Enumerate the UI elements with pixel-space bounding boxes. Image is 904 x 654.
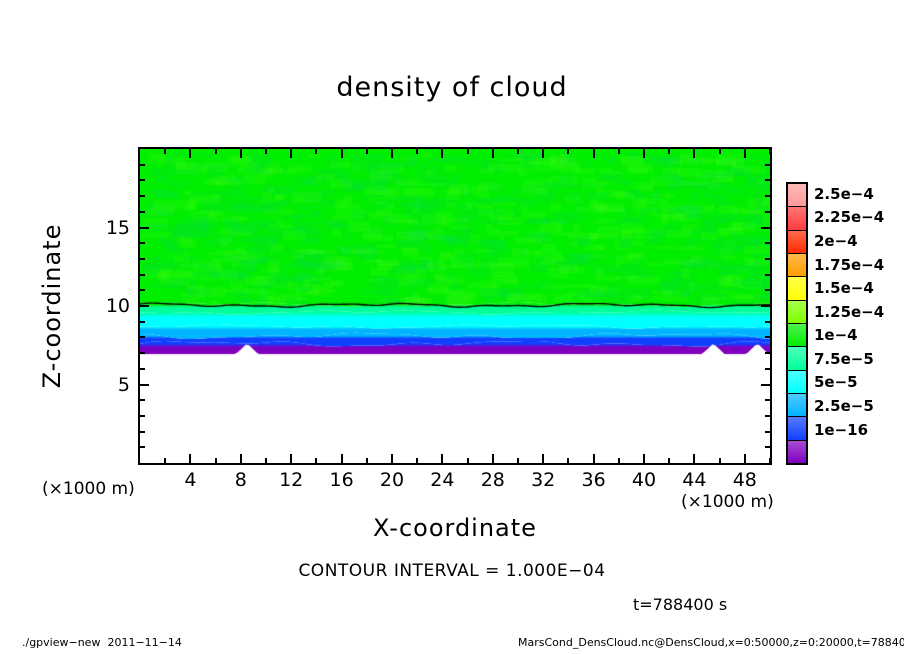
colorbar-tick-label: 2e−4 xyxy=(814,232,858,250)
colorbar-tick-label: 2.25e−4 xyxy=(814,208,884,226)
y-axis-minor-tick xyxy=(765,211,770,213)
x-axis-minor-tick xyxy=(668,458,670,463)
x-axis-minor-tick xyxy=(315,458,317,463)
y-axis-minor-tick xyxy=(765,446,770,448)
x-axis-minor-tick xyxy=(366,149,368,154)
colorbar-band xyxy=(788,394,806,417)
footer-command: ./gpview−new 2011−11−14 xyxy=(22,636,182,649)
y-axis-minor-tick xyxy=(140,336,145,338)
y-axis-minor-tick xyxy=(140,352,145,354)
time-stamp: t=788400 s xyxy=(633,595,727,614)
x-axis-major-tick xyxy=(441,149,443,158)
y-axis-minor-tick xyxy=(765,415,770,417)
x-axis-minor-tick xyxy=(315,149,317,154)
x-axis-minor-tick xyxy=(467,458,469,463)
x-axis-major-tick xyxy=(693,454,695,463)
page-title: density of cloud xyxy=(0,72,904,103)
y-axis-minor-tick xyxy=(765,399,770,401)
y-axis-minor-tick xyxy=(765,289,770,291)
x-axis-major-tick xyxy=(341,454,343,463)
y-axis-major-tick xyxy=(140,305,149,307)
x-axis-tick-label: 8 xyxy=(235,469,247,491)
x-axis-title: X-coordinate xyxy=(138,514,772,542)
y-axis-minor-tick xyxy=(140,179,145,181)
colorbar-band xyxy=(788,184,806,207)
y-axis-minor-tick xyxy=(140,258,145,260)
x-axis-tick-label: 28 xyxy=(481,469,505,491)
x-axis-tick-label: 40 xyxy=(632,469,656,491)
y-axis-title: Z-coordinate xyxy=(38,224,66,389)
y-axis-minor-tick xyxy=(765,195,770,197)
colorbar-band xyxy=(788,254,806,277)
x-axis-minor-tick xyxy=(164,458,166,463)
x-axis-tick-label: 32 xyxy=(531,469,555,491)
x-axis-major-tick xyxy=(542,149,544,158)
y-axis-minor-tick xyxy=(765,179,770,181)
x-axis-tick-label: 36 xyxy=(582,469,606,491)
y-axis-minor-tick xyxy=(765,274,770,276)
x-axis-major-tick xyxy=(189,149,191,158)
y-axis-minor-tick xyxy=(140,289,145,291)
colorbar xyxy=(786,182,808,465)
x-axis-minor-tick xyxy=(265,149,267,154)
x-axis-minor-tick xyxy=(769,149,771,154)
y-axis-minor-tick xyxy=(765,242,770,244)
x-axis-minor-tick xyxy=(416,458,418,463)
y-axis-minor-tick xyxy=(140,242,145,244)
x-axis-minor-tick xyxy=(719,149,721,154)
colorbar-tick-label: 1.5e−4 xyxy=(814,279,874,297)
x-axis-major-tick xyxy=(693,149,695,158)
y-axis-major-tick xyxy=(140,227,149,229)
x-axis-major-tick xyxy=(189,454,191,463)
x-axis-major-tick xyxy=(593,149,595,158)
x-axis-tick-label: 48 xyxy=(733,469,757,491)
x-axis-minor-tick xyxy=(618,458,620,463)
colorbar-band xyxy=(788,417,806,440)
colorbar-band xyxy=(788,347,806,370)
x-axis-major-tick xyxy=(240,149,242,158)
x-axis-minor-tick xyxy=(719,458,721,463)
x-axis-unit-note: (×1000 m) xyxy=(681,492,774,512)
x-axis-minor-tick xyxy=(215,149,217,154)
y-axis-unit-note: (×1000 m) xyxy=(42,479,135,499)
y-axis-minor-tick xyxy=(765,368,770,370)
x-axis-major-tick xyxy=(492,149,494,158)
y-axis-major-tick xyxy=(761,384,770,386)
x-axis-tick-label: 4 xyxy=(184,469,196,491)
x-axis-minor-tick xyxy=(215,458,217,463)
colorbar-band xyxy=(788,441,806,463)
y-axis-tick-label: 5 xyxy=(92,374,130,396)
colorbar-band xyxy=(788,371,806,394)
colorbar-band xyxy=(788,324,806,347)
colorbar-tick-label: 2.5e−5 xyxy=(814,397,874,415)
x-axis-major-tick xyxy=(391,149,393,158)
x-axis-minor-tick xyxy=(618,149,620,154)
y-axis-tick-label: 10 xyxy=(92,295,130,317)
y-axis-minor-tick xyxy=(140,321,145,323)
x-axis-major-tick xyxy=(542,454,544,463)
x-axis-major-tick xyxy=(290,454,292,463)
x-axis-tick-label: 20 xyxy=(380,469,404,491)
x-axis-major-tick xyxy=(492,454,494,463)
x-axis-major-tick xyxy=(240,454,242,463)
x-axis-major-tick xyxy=(441,454,443,463)
y-axis-minor-tick xyxy=(765,258,770,260)
x-axis-tick-label: 16 xyxy=(330,469,354,491)
colorbar-tick-label: 7.5e−5 xyxy=(814,350,874,368)
x-axis-major-tick xyxy=(391,454,393,463)
y-axis-minor-tick xyxy=(140,431,145,433)
y-axis-minor-tick xyxy=(765,352,770,354)
y-axis-minor-tick xyxy=(140,446,145,448)
y-axis-minor-tick xyxy=(765,164,770,166)
colorbar-tick-label: 1e−4 xyxy=(814,326,858,344)
plot-area xyxy=(138,147,772,465)
x-axis-major-tick xyxy=(643,149,645,158)
y-axis-tick-label: 15 xyxy=(92,217,130,239)
y-axis-minor-tick xyxy=(140,399,145,401)
x-axis-major-tick xyxy=(290,149,292,158)
contour-field xyxy=(140,149,770,463)
colorbar-band xyxy=(788,207,806,230)
x-axis-major-tick xyxy=(593,454,595,463)
colorbar-tick-label: 1e−16 xyxy=(814,421,868,439)
x-axis-minor-tick xyxy=(416,149,418,154)
y-axis-major-tick xyxy=(761,227,770,229)
colorbar-tick-label: 1.75e−4 xyxy=(814,256,884,274)
x-axis-tick-label: 24 xyxy=(430,469,454,491)
x-axis-minor-tick xyxy=(769,458,771,463)
x-axis-major-tick xyxy=(643,454,645,463)
y-axis-minor-tick xyxy=(140,211,145,213)
colorbar-tick-label: 1.25e−4 xyxy=(814,303,884,321)
x-axis-major-tick xyxy=(341,149,343,158)
y-axis-minor-tick xyxy=(140,164,145,166)
y-axis-minor-tick xyxy=(765,431,770,433)
x-axis-major-tick xyxy=(744,149,746,158)
y-axis-minor-tick xyxy=(765,336,770,338)
y-axis-minor-tick xyxy=(140,415,145,417)
colorbar-tick-label: 2.5e−4 xyxy=(814,185,874,203)
colorbar-band xyxy=(788,277,806,300)
x-axis-minor-tick xyxy=(467,149,469,154)
x-axis-minor-tick xyxy=(567,458,569,463)
colorbar-band xyxy=(788,301,806,324)
colorbar-tick-label: 5e−5 xyxy=(814,373,858,391)
footer-source: MarsCond_DensCloud.nc@DensCloud,x=0:5000… xyxy=(518,636,904,649)
contour-interval-note: CONTOUR INTERVAL = 1.000E−04 xyxy=(0,561,904,581)
colorbar-band xyxy=(788,231,806,254)
x-axis-minor-tick xyxy=(517,149,519,154)
x-axis-minor-tick xyxy=(366,458,368,463)
y-axis-minor-tick xyxy=(140,274,145,276)
y-axis-major-tick xyxy=(761,305,770,307)
x-axis-minor-tick xyxy=(265,458,267,463)
y-axis-minor-tick xyxy=(140,195,145,197)
x-axis-minor-tick xyxy=(668,149,670,154)
x-axis-major-tick xyxy=(744,454,746,463)
x-axis-minor-tick xyxy=(164,149,166,154)
x-axis-minor-tick xyxy=(567,149,569,154)
y-axis-minor-tick xyxy=(765,321,770,323)
x-axis-minor-tick xyxy=(517,458,519,463)
y-axis-minor-tick xyxy=(140,368,145,370)
x-axis-tick-label: 12 xyxy=(279,469,303,491)
x-axis-tick-label: 44 xyxy=(682,469,706,491)
y-axis-major-tick xyxy=(140,384,149,386)
